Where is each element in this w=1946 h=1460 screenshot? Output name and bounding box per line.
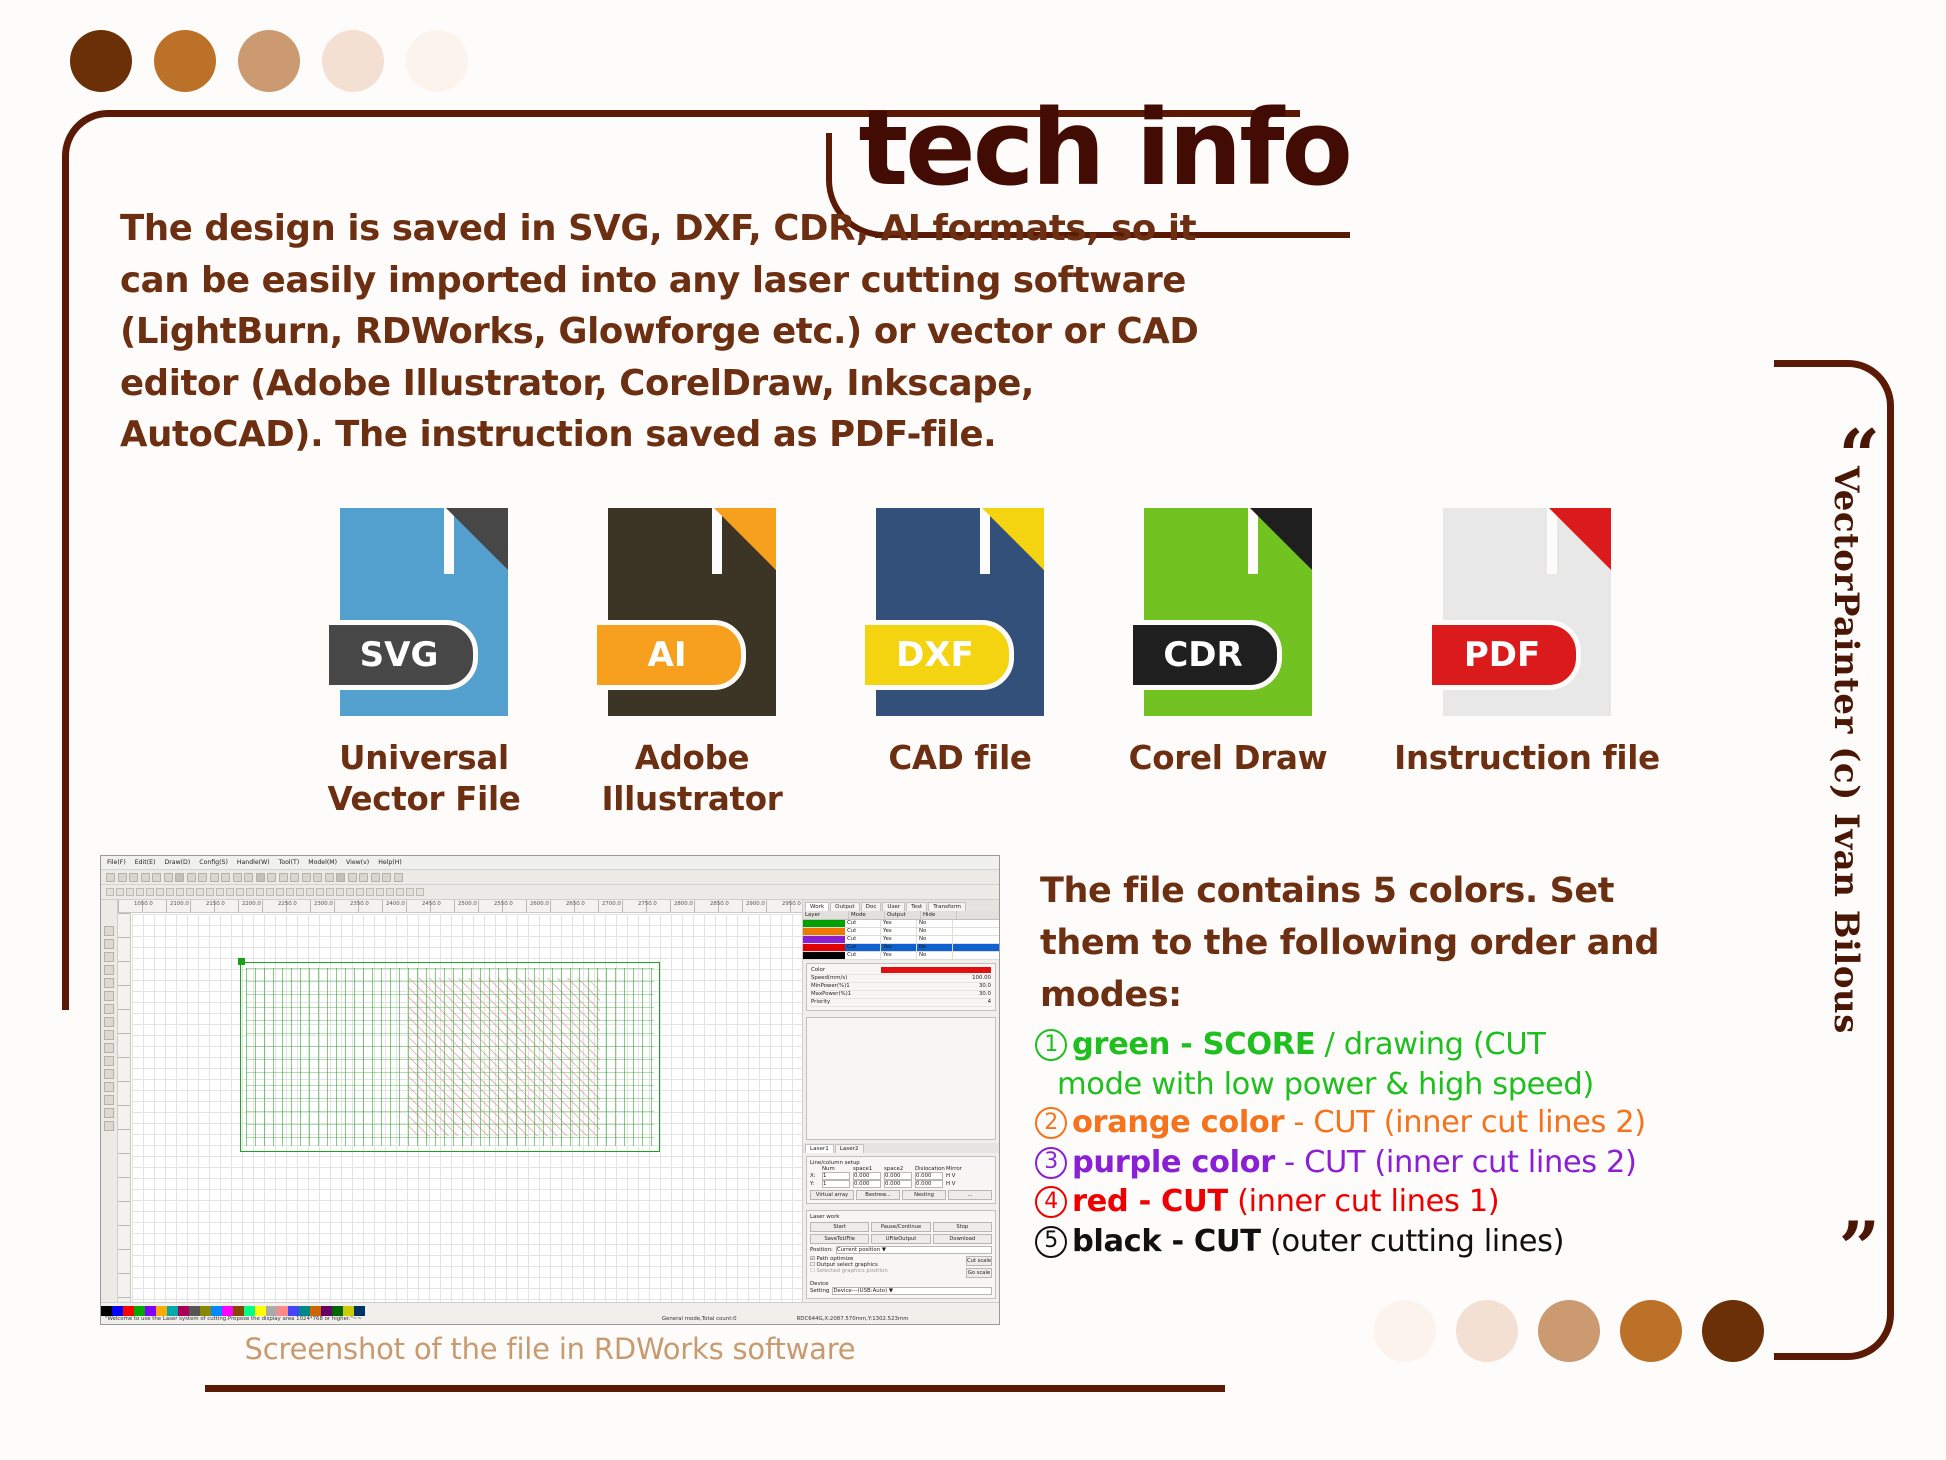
screenshot-caption: Screenshot of the file in RDWorks softwa… [100, 1332, 1000, 1366]
layer-hide: No [917, 944, 953, 951]
toolbar-icon[interactable] [175, 873, 184, 882]
tool-icon[interactable] [104, 1069, 114, 1079]
statusbar-text: "Welcome to use the Laser system of cutt… [101, 1316, 999, 1324]
param-key: Priority [811, 999, 830, 1005]
toolbar-icon[interactable] [325, 873, 334, 882]
icon-notch [444, 508, 454, 574]
color-item-continuation: mode with low power & high speed) [1057, 1066, 1695, 1105]
laser-tab[interactable]: Laser2 [835, 1144, 864, 1153]
palette-swatch[interactable] [167, 1306, 178, 1316]
color-mode-item: 1green - SCORE / drawing (CUT [1035, 1026, 1695, 1065]
menu-item[interactable]: View(v) [346, 859, 369, 866]
layer-color-swatch [803, 928, 845, 935]
layer-output: Yes [881, 928, 917, 935]
toolbar-icon[interactable] [302, 873, 311, 882]
array-space2[interactable]: 0.000 [884, 1172, 912, 1180]
toolbar-icon[interactable] [152, 873, 161, 882]
layer-mode: Cut [845, 928, 881, 935]
tool-icon[interactable] [104, 1108, 114, 1118]
color-mode-item: 3purple color - CUT (inner cut lines 2) [1035, 1144, 1695, 1183]
ruler-tick-label: 2600.0 [530, 901, 549, 907]
toolbar-icon[interactable] [236, 888, 244, 896]
toolbar-icon[interactable] [376, 888, 384, 896]
device-label: Setting [810, 1288, 829, 1294]
top-palette-swatch [154, 30, 216, 92]
layer-row[interactable]: CutYesNo [803, 928, 999, 936]
array-space2[interactable]: 0.000 [884, 1180, 912, 1188]
param-row[interactable]: Color [810, 967, 992, 975]
toolbar-icon[interactable] [336, 873, 345, 882]
param-key: Color [811, 967, 825, 973]
toolbar-icon[interactable] [266, 888, 274, 896]
menu-item[interactable]: Edit(E) [135, 859, 156, 866]
icon-format-badge: SVG [324, 620, 478, 690]
toolbar-icon[interactable] [371, 873, 380, 882]
layer-hide: No [917, 920, 953, 927]
toolbar-icon[interactable] [196, 888, 204, 896]
layer-column-header: Layer [803, 911, 849, 919]
ruler-tick-label: 2650.0 [566, 901, 585, 907]
palette-swatch[interactable] [222, 1306, 233, 1316]
statusbar-mid: General mode,Total count:0 [662, 1316, 737, 1322]
layer-column-header: Mode [849, 911, 885, 919]
palette-swatch[interactable] [233, 1306, 244, 1316]
toolbar-icon[interactable] [116, 888, 124, 896]
panel-tab[interactable]: Transform [928, 902, 966, 911]
menu-item[interactable]: Model(M) [308, 859, 337, 866]
layer-hide: No [917, 928, 953, 935]
ruler-tick-label: 2200.0 [242, 901, 261, 907]
rdworks-right-panel[interactable]: WorkOutputDocUserTestTransform LayerMode… [803, 900, 999, 1302]
layer-mode: Cut [845, 920, 881, 927]
bottom-palette-swatch [1620, 1300, 1682, 1362]
param-row[interactable]: Speed(mm/s)100.00 [810, 975, 992, 983]
rdworks-toolbar-secondary[interactable] [101, 885, 999, 900]
palette-swatch[interactable] [145, 1306, 156, 1316]
ruler-tick-label: 2150.0 [206, 901, 225, 907]
array-button[interactable]: Virtual array [810, 1190, 854, 1200]
file-icon-caption: AdobeIllustrator [558, 738, 826, 820]
rdworks-screenshot: File(F)Edit(E)Draw(D)Config(S)Handle(W)T… [100, 855, 1000, 1325]
param-row[interactable]: Priority4 [810, 999, 992, 1007]
ruler-tick-label: 2550.0 [494, 901, 513, 907]
file-icon-svg: SVGUniversalVector File [290, 508, 558, 820]
svg-file-icon: SVG [340, 508, 508, 716]
layer-mode: Cut [845, 936, 881, 943]
layer-table-header: LayerModeOutputHide [803, 911, 999, 920]
array-space1[interactable]: 0.000 [853, 1172, 881, 1180]
rdworks-canvas-wrap[interactable]: 1050.02100.02150.02200.02250.02300.02350… [118, 900, 803, 1302]
param-value: 30.0 [979, 991, 991, 997]
rdworks-canvas[interactable] [132, 914, 802, 1302]
layer-output: Yes [881, 920, 917, 927]
color-item-text: black - CUT (outer cutting lines) [1072, 1223, 1695, 1262]
toolbar-icon[interactable] [290, 873, 299, 882]
tool-icon[interactable] [104, 952, 114, 962]
icon-notch [712, 508, 722, 574]
panel-tab[interactable]: Output [830, 902, 859, 911]
file-format-icon-row: SVGUniversalVector FileAIAdobeIllustrato… [290, 508, 1692, 820]
palette-swatch[interactable] [332, 1306, 343, 1316]
array-column-header: Mirror [946, 1166, 974, 1172]
layer-hide: No [917, 952, 953, 959]
color-item-number: 3 [1035, 1147, 1067, 1179]
array-mirror[interactable]: H V [946, 1173, 976, 1179]
rdworks-toolbar-primary[interactable] [101, 870, 999, 885]
toolbar-icon[interactable] [141, 873, 150, 882]
ai-file-icon: AI [608, 508, 776, 716]
param-key: MinPower(%)1 [811, 983, 850, 989]
ruler-tick-label: 2250.0 [278, 901, 297, 907]
ruler-tick-label: 2900.0 [746, 901, 765, 907]
color-item-number: 5 [1035, 1226, 1067, 1258]
layer-output: Yes [881, 952, 917, 959]
go-scale-button[interactable]: Go scale [966, 1268, 992, 1278]
toolbar-icon[interactable] [106, 888, 114, 896]
toolbar-icon[interactable] [382, 873, 391, 882]
array-button[interactable]: Nesting [902, 1190, 946, 1200]
tool-icon[interactable] [104, 1095, 114, 1105]
color-item-number: 4 [1035, 1186, 1067, 1218]
top-palette-swatch [406, 30, 468, 92]
layer-color-swatch [803, 952, 845, 959]
toolbar-icon[interactable] [206, 888, 214, 896]
tool-icon[interactable] [104, 926, 114, 936]
menu-item[interactable]: Handle(W) [237, 859, 270, 866]
toolbar-icon[interactable] [276, 888, 284, 896]
layer-column-header: Hide [921, 911, 957, 919]
toolbar-icon[interactable] [279, 873, 288, 882]
file-icon-caption: Instruction file [1362, 738, 1692, 779]
ruler-tick-label: 2350.0 [350, 901, 369, 907]
attribution-text: VectorPainter (c) Ivan Bilous [1818, 430, 1874, 1070]
laserwork-button[interactable]: Pause/Continue [871, 1222, 930, 1232]
icon-format-badge: CDR [1128, 620, 1282, 690]
toolbar-icon[interactable] [286, 888, 294, 896]
bottom-color-palette [1374, 1300, 1764, 1362]
color-item-text: purple color - CUT (inner cut lines 2) [1072, 1144, 1695, 1183]
toolbar-icon[interactable] [406, 888, 414, 896]
rdworks-laser-tabs[interactable]: Laser1Laser2 [803, 1143, 999, 1154]
layer-color-swatch [803, 920, 845, 927]
toolbar-icon[interactable] [366, 888, 374, 896]
toolbar-icon[interactable] [306, 888, 314, 896]
rdworks-workarea: 1050.02100.02150.02200.02250.02300.02350… [101, 900, 999, 1302]
page-title: tech info [858, 96, 1350, 200]
layer-color-swatch [803, 944, 845, 951]
icon-notch [1248, 508, 1258, 574]
toolbar-icon[interactable] [129, 873, 138, 882]
toolbar-icon[interactable] [198, 873, 207, 882]
laserwork-row1[interactable]: StartPause/ContinueStop [810, 1222, 992, 1232]
ruler-tick-label: 2700.0 [602, 901, 621, 907]
menu-item[interactable]: Config(S) [199, 859, 228, 866]
toolbar-icon[interactable] [356, 888, 364, 896]
toolbar-icon[interactable] [166, 888, 174, 896]
icon-format-badge: DXF [860, 620, 1014, 690]
toolbar-icon[interactable] [126, 888, 134, 896]
ruler-tick-label: 2750.0 [638, 901, 657, 907]
param-row[interactable]: MaxPower(%)130.0 [810, 991, 992, 999]
decorative-frame-bottom [205, 1385, 1225, 1392]
palette-swatch[interactable] [189, 1306, 200, 1316]
icon-format-badge: AI [592, 620, 746, 690]
array-mirror[interactable]: H V [946, 1181, 976, 1187]
layer-hide: No [917, 936, 953, 943]
toolbar-icon[interactable] [316, 888, 324, 896]
menu-item[interactable]: Help(H) [378, 859, 402, 866]
ruler-tick-label: 2800.0 [674, 901, 693, 907]
panel-tab[interactable]: Work [805, 902, 829, 911]
color-item-number: 2 [1035, 1107, 1067, 1139]
array-row[interactable]: X:10.0000.0000.000H V [810, 1172, 992, 1180]
file-icon-ai: AIAdobeIllustrator [558, 508, 826, 820]
toolbar-icon[interactable] [118, 873, 127, 882]
color-item-text: orange color - CUT (inner cut lines 2) [1072, 1104, 1695, 1143]
palette-swatch[interactable] [112, 1306, 123, 1316]
tool-icon[interactable] [104, 1056, 114, 1066]
cdr-file-icon: CDR [1144, 508, 1312, 716]
palette-swatch[interactable] [343, 1306, 354, 1316]
palette-swatch[interactable] [101, 1306, 112, 1316]
ruler-tick-label: 2950.0 [782, 901, 801, 907]
tool-icon[interactable] [104, 965, 114, 975]
device-row[interactable]: SettingDevice---(USB:Auto) ▼ [810, 1287, 992, 1295]
statusbar-inner: "Welcome to use the Laser system of cutt… [101, 1306, 999, 1324]
array-button-row[interactable]: Virtual arrayBestrew...Nesting... [810, 1190, 992, 1200]
statusbar-left: "Welcome to use the Laser system of cutt… [105, 1316, 362, 1322]
toolbar-icon[interactable] [346, 888, 354, 896]
panel-tab[interactable]: User [882, 902, 905, 911]
tech-info-page: tech info The design is saved in SVG, DX… [0, 0, 1946, 1460]
top-color-palette [70, 30, 468, 92]
palette-swatch[interactable] [211, 1306, 222, 1316]
toolbar-icon[interactable] [296, 888, 304, 896]
palette-swatch[interactable] [134, 1306, 145, 1316]
palette-swatch[interactable] [244, 1306, 255, 1316]
palette-swatch[interactable] [255, 1306, 266, 1316]
param-row[interactable]: MinPower(%)130.0 [810, 983, 992, 991]
palette-swatch[interactable] [266, 1306, 277, 1316]
color-item-text: red - CUT (inner cut lines 1) [1072, 1183, 1695, 1222]
toolbar-icon[interactable] [244, 873, 253, 882]
toolbar-icon[interactable] [210, 873, 219, 882]
top-palette-swatch [322, 30, 384, 92]
toolbar-icon[interactable] [156, 888, 164, 896]
toolbar-icon[interactable] [336, 888, 344, 896]
laserwork-button[interactable]: Stop [933, 1222, 992, 1232]
toolbar-icon[interactable] [233, 873, 242, 882]
panel-tab[interactable]: Test [906, 902, 927, 911]
canvas-vector-drawing [240, 962, 660, 1152]
toolbar-icon[interactable] [221, 873, 230, 882]
toolbar-icon[interactable] [146, 888, 154, 896]
bottom-palette-swatch [1374, 1300, 1436, 1362]
rdworks-laserwork-box[interactable]: Laser workStartPause/ContinueStopSaveToU… [806, 1210, 996, 1299]
icon-format-label: AI [648, 635, 687, 675]
ruler-tick-label: 2450.0 [422, 901, 441, 907]
icon-notch [1547, 508, 1557, 574]
laserwork-button[interactable]: Download [933, 1234, 992, 1244]
page-title-wrap: tech info [858, 96, 1350, 200]
menu-item[interactable]: Draw(D) [164, 859, 190, 866]
toolbar-icon[interactable] [176, 888, 184, 896]
icon-format-label: PDF [1464, 635, 1540, 675]
rdworks-vertical-ruler [118, 913, 131, 1302]
pdf-file-icon: PDF [1443, 508, 1611, 716]
icon-format-label: CDR [1163, 635, 1242, 675]
toolbar-icon[interactable] [216, 888, 224, 896]
palette-swatch[interactable] [277, 1306, 288, 1316]
toolbar-icon[interactable] [256, 873, 265, 882]
device-select[interactable]: Device---(USB:Auto) ▼ [832, 1287, 992, 1295]
param-value: 4 [988, 999, 991, 1005]
palette-swatch[interactable] [310, 1306, 321, 1316]
palette-swatch[interactable] [354, 1306, 365, 1316]
ruler-tick-label: 2100.0 [170, 901, 189, 907]
layer-column-header: Output [885, 911, 921, 919]
array-num[interactable]: 1 [822, 1172, 850, 1180]
statusbar-right: RDC644G,X:2087.570mm,Y:1302.523mm [797, 1316, 909, 1322]
array-button[interactable]: Bestrew... [856, 1190, 900, 1200]
toolbar-icon[interactable] [256, 888, 264, 896]
layer-output: Yes [881, 944, 917, 951]
rdworks-layer-table[interactable]: LayerModeOutputHideCutYesNoCutYesNoCutYe… [803, 911, 999, 960]
toolbar-icon[interactable] [136, 888, 144, 896]
position-select[interactable]: Current position ▼ [836, 1246, 992, 1254]
tool-icon[interactable] [104, 1043, 114, 1053]
icon-format-label: SVG [360, 635, 439, 675]
ruler-tick-label: 2500.0 [458, 901, 477, 907]
top-palette-swatch [238, 30, 300, 92]
options-row[interactable]: ☑ Path optimize☐ Output select graphics☐… [810, 1256, 992, 1278]
toolbar-icon[interactable] [246, 888, 254, 896]
tool-icon[interactable] [104, 1017, 114, 1027]
file-icon-caption: UniversalVector File [290, 738, 558, 820]
toolbar-icon[interactable] [186, 888, 194, 896]
palette-swatch[interactable] [299, 1306, 310, 1316]
array-button[interactable]: ... [948, 1190, 992, 1200]
palette-swatch[interactable] [178, 1306, 189, 1316]
layer-mode: Cut [845, 944, 881, 951]
tool-icon[interactable] [104, 1004, 114, 1014]
toolbar-icon[interactable] [313, 873, 322, 882]
laserwork-row2[interactable]: SaveToUFileUFileOutputDownload [810, 1234, 992, 1244]
toolbar-icon[interactable] [416, 888, 424, 896]
array-row[interactable]: Y:10.0000.0000.000H V [810, 1180, 992, 1188]
array-dislocation[interactable]: 0.000 [915, 1180, 943, 1188]
colors-list: 1green - SCORE / drawing (CUTmode with l… [1035, 1026, 1695, 1262]
toolbar-icon[interactable] [187, 873, 196, 882]
menu-item[interactable]: Tool(T) [279, 859, 300, 866]
color-mode-item: 2orange color - CUT (inner cut lines 2) [1035, 1104, 1695, 1143]
file-icon-dxf: DXFCAD file [826, 508, 1094, 779]
color-mode-item: 4red - CUT (inner cut lines 1) [1035, 1183, 1695, 1222]
color-mode-item: 5black - CUT (outer cutting lines) [1035, 1223, 1695, 1262]
array-axis: Y: [810, 1181, 819, 1187]
array-dislocation[interactable]: 0.000 [915, 1172, 943, 1180]
tool-icon[interactable] [104, 1082, 114, 1092]
palette-swatch[interactable] [321, 1306, 332, 1316]
layer-row[interactable]: CutYesNo [803, 952, 999, 960]
param-value: 100.00 [972, 975, 991, 981]
ruler-tick-label: 2400.0 [386, 901, 405, 907]
array-space1[interactable]: 0.000 [853, 1180, 881, 1188]
rdworks-left-toolbox[interactable] [101, 900, 118, 1302]
toolbar-icon[interactable] [267, 873, 276, 882]
palette-swatch[interactable] [123, 1306, 134, 1316]
param-color-bar [881, 967, 991, 973]
file-icon-pdf: PDFInstruction file [1362, 508, 1692, 779]
ruler-tick-label: 2850.0 [710, 901, 729, 907]
toolbar-icon[interactable] [396, 888, 404, 896]
layer-row[interactable]: CutYesNo [803, 936, 999, 944]
tool-icon[interactable] [104, 991, 114, 1001]
position-row[interactable]: Position:Current position ▼ [810, 1246, 992, 1254]
tool-icon[interactable] [104, 939, 114, 949]
laserwork-button[interactable]: SaveToUFile [810, 1234, 869, 1244]
menu-item[interactable]: File(F) [107, 859, 126, 866]
rdworks-empty-box [806, 1017, 996, 1140]
colors-heading: The file contains 5 colors. Set them to … [1040, 865, 1660, 1021]
rdworks-menubar[interactable]: File(F)Edit(E)Draw(D)Config(S)Handle(W)T… [101, 856, 999, 870]
array-num[interactable]: 1 [822, 1180, 850, 1188]
toolbar-icon[interactable] [326, 888, 334, 896]
palette-swatch-bar[interactable] [101, 1306, 999, 1316]
layer-row[interactable]: CutYesNo [803, 944, 999, 952]
layer-row[interactable]: CutYesNo [803, 920, 999, 928]
laserwork-button[interactable]: Start [810, 1222, 869, 1232]
file-icon-caption: Corel Draw [1094, 738, 1362, 779]
icon-format-badge: PDF [1427, 620, 1581, 690]
bottom-palette-swatch [1456, 1300, 1518, 1362]
ruler-tick-label: 2300.0 [314, 901, 333, 907]
cut-scale-button[interactable]: Cut scale [966, 1256, 992, 1266]
palette-swatch[interactable] [288, 1306, 299, 1316]
panel-tab[interactable]: Doc [861, 902, 882, 911]
tool-icon[interactable] [104, 1030, 114, 1040]
rdworks-panel-tabs[interactable]: WorkOutputDocUserTestTransform [803, 900, 999, 911]
bottom-palette-swatch [1702, 1300, 1764, 1362]
rdworks-array-box[interactable]: Line/column setupNumspace1space2Dislocat… [806, 1156, 996, 1204]
layer-output: Yes [881, 936, 917, 943]
toolbar-icon[interactable] [348, 873, 357, 882]
dxf-file-icon: DXF [876, 508, 1044, 716]
laserwork-group-title: Laser work [810, 1214, 992, 1220]
toolbar-icon[interactable] [359, 873, 368, 882]
tool-icon[interactable] [104, 978, 114, 988]
toolbar-icon[interactable] [164, 873, 173, 882]
palette-swatch[interactable] [200, 1306, 211, 1316]
position-label: Position: [810, 1247, 833, 1253]
palette-swatch[interactable] [156, 1306, 167, 1316]
laserwork-button[interactable]: UFileOutput [871, 1234, 930, 1244]
rdworks-statusbar: "Welcome to use the Laser system of cutt… [101, 1302, 999, 1324]
toolbar-icon[interactable] [394, 873, 403, 882]
toolbar-icon[interactable] [106, 873, 115, 882]
tool-icon[interactable] [104, 1121, 114, 1131]
color-item-text: green - SCORE / drawing (CUT [1072, 1026, 1695, 1065]
param-key: Speed(mm/s) [811, 975, 847, 981]
toolbar-icon[interactable] [226, 888, 234, 896]
param-key: MaxPower(%)1 [811, 991, 851, 997]
rdworks-params-box[interactable]: ColorSpeed(mm/s)100.00MinPower(%)130.0Ma… [806, 963, 996, 1011]
file-icon-cdr: CDRCorel Draw [1094, 508, 1362, 779]
laser-tab[interactable]: Laser1 [805, 1144, 834, 1153]
toolbar-icon[interactable] [386, 888, 394, 896]
bottom-palette-swatch [1538, 1300, 1600, 1362]
ruler-tick-label: 1050.0 [134, 901, 153, 907]
